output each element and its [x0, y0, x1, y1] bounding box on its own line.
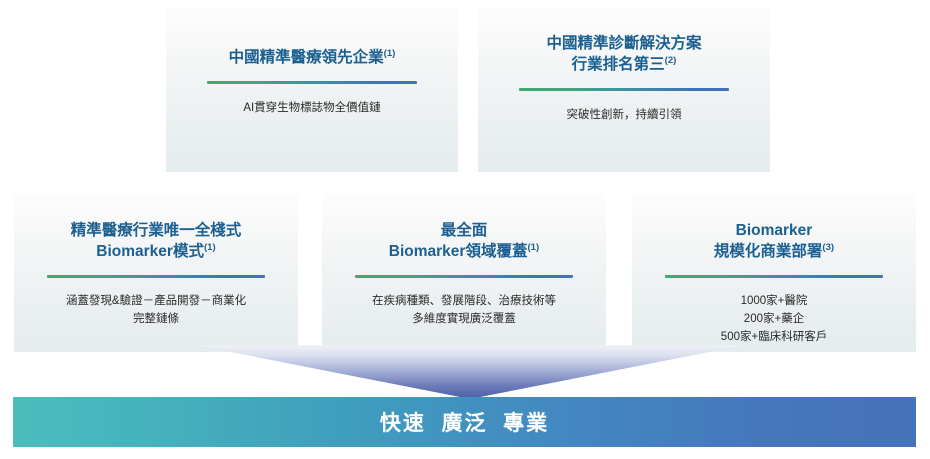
card-divider — [207, 81, 417, 84]
card-body: 突破性創新，持續引領 — [567, 107, 682, 125]
highlight-card-commercial-deployment: Biomarker 規模化商業部署(3) 1000家+醫院 200家+藥企 50… — [632, 193, 916, 352]
summary-banner: 快速 廣泛 專業 — [13, 397, 916, 447]
card-title: Biomarker 規模化商業部署(3) — [714, 221, 834, 263]
card-title-superscript: (1) — [384, 48, 396, 59]
card-title: 精準醫療行業唯一全棧式 Biomarker模式(1) — [71, 221, 242, 263]
card-title-superscript: (3) — [822, 242, 834, 253]
card-title: 中國精準醫療領先企業(1) — [229, 48, 396, 69]
highlight-card-biomarker-coverage: 最全面 Biomarker領域覆蓋(1) 在疾病種類、發展階段、治療技術等 多維… — [322, 193, 606, 352]
card-title-superscript: (2) — [665, 55, 677, 66]
highlight-card-industry-rank: 中國精準診斷解決方案 行業排名第三(2) 突破性創新，持續引領 — [478, 8, 770, 172]
card-title: 最全面 Biomarker領域覆蓋(1) — [389, 221, 539, 263]
card-body: 在疾病種類、發展階段、治療技術等 多維度實現廣泛覆蓋 — [372, 293, 556, 329]
banner-text: 快速 廣泛 專業 — [380, 407, 549, 437]
down-arrow-icon — [195, 345, 745, 399]
card-divider — [355, 275, 573, 278]
card-title-superscript: (1) — [204, 242, 216, 253]
highlight-card-full-stack-biomarker: 精準醫療行業唯一全棧式 Biomarker模式(1) 涵蓋發現&驗證－產品開發－… — [14, 193, 298, 352]
card-title-superscript: (1) — [527, 242, 539, 253]
card-divider — [47, 275, 265, 278]
card-body: 1000家+醫院 200家+藥企 500家+臨床科研客戶 — [721, 293, 827, 346]
slide-canvas: 中國精準醫療領先企業(1) AI貫穿生物標誌物全價值鏈 中國精準診斷解決方案 行… — [0, 0, 930, 459]
card-title: 中國精準診斷解決方案 行業排名第三(2) — [546, 34, 701, 76]
card-divider — [665, 275, 883, 278]
highlight-card-leading-enterprise: 中國精準醫療領先企業(1) AI貫穿生物標誌物全價值鏈 — [166, 8, 458, 172]
card-body: 涵蓋發現&驗證－產品開發－商業化 完整鏈條 — [66, 293, 246, 329]
card-body: AI貫穿生物標誌物全價值鏈 — [243, 100, 380, 118]
card-divider — [519, 88, 729, 91]
